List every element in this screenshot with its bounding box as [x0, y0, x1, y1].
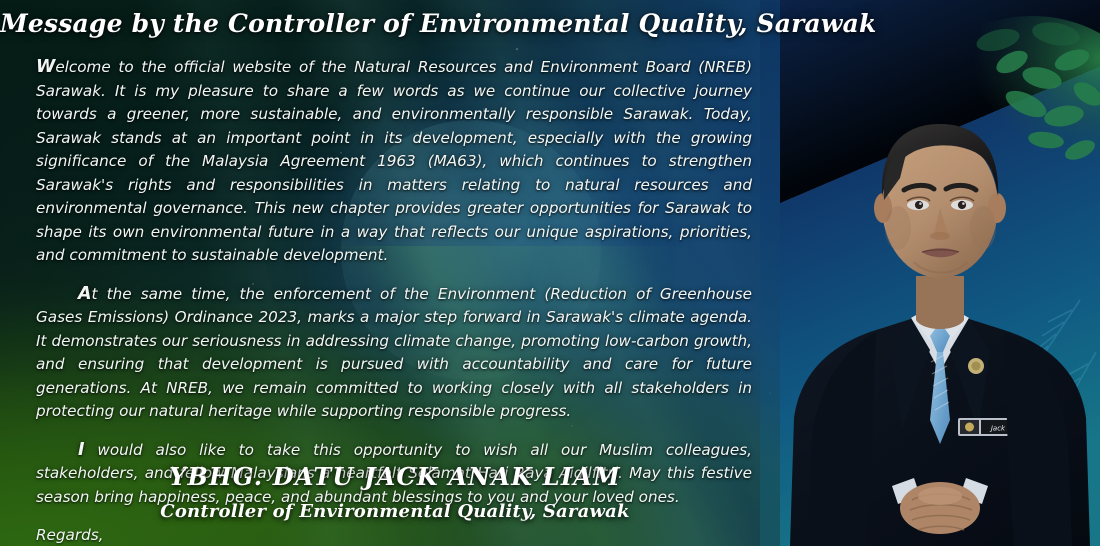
paragraph-2-text: t the same time, the enforcement of the …	[36, 285, 752, 421]
message-banner: Jack	[0, 0, 1100, 546]
signatory-role: Controller of Environmental Quality, Sar…	[0, 501, 790, 522]
portrait-illustration: Jack	[780, 0, 1100, 546]
paragraph-2: At the same time, the enforcement of the…	[36, 283, 752, 424]
paragraph-1-text: elcome to the official website of the Na…	[36, 58, 752, 264]
paragraph-1: Welcome to the official website of the N…	[36, 56, 752, 268]
message-content: Message by the Controller of Environment…	[0, 0, 790, 546]
page-title: Message by the Controller of Environment…	[0, 9, 790, 38]
paragraph-2-dropcap: A	[78, 284, 92, 304]
signatory-name: YBHG. DATU JACK ANAK LIAM	[0, 462, 790, 491]
paragraph-1-dropcap: W	[36, 57, 55, 77]
portrait-photo: Jack	[780, 0, 1100, 546]
signature-block: YBHG. DATU JACK ANAK LIAM Controller of …	[0, 462, 790, 522]
regards-line: Regards,	[36, 524, 752, 546]
